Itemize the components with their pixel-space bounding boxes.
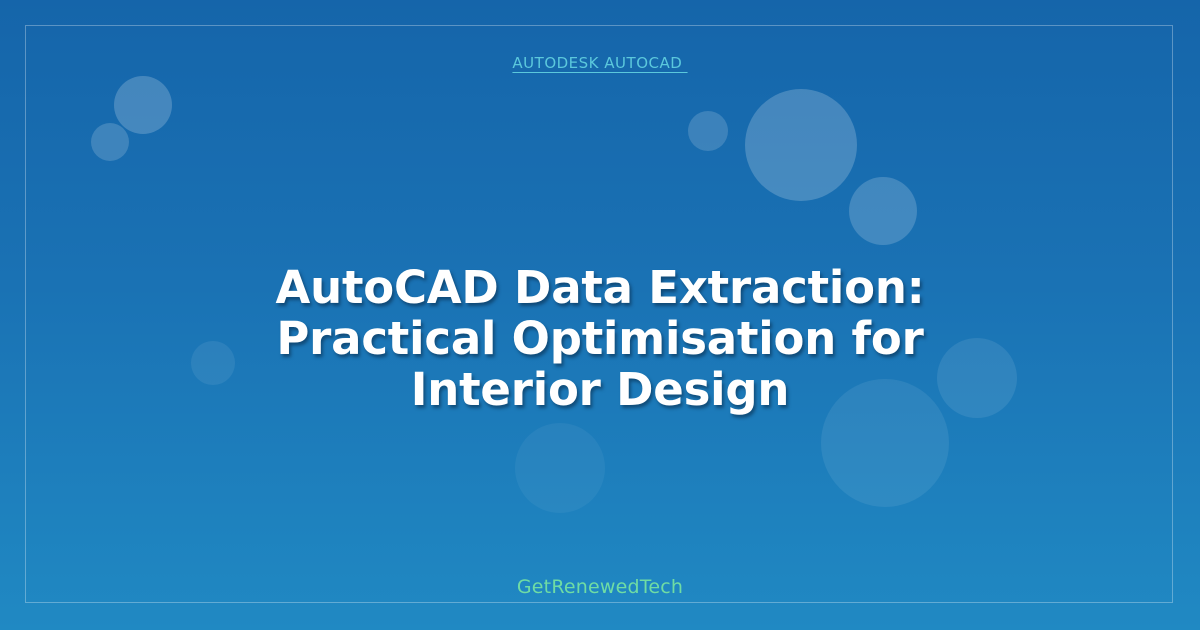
title-block: AutoCAD Data Extraction: Practical Optim… [0,262,1200,415]
og-hero-card: AUTODESK AUTOCAD AutoCAD Data Extraction… [0,0,1200,630]
card-content: AUTODESK AUTOCAD AutoCAD Data Extraction… [0,0,1200,630]
brand-footer: GetRenewedTech [0,576,1200,598]
page-title: AutoCAD Data Extraction: Practical Optim… [200,262,1000,415]
category-label[interactable]: AUTODESK AUTOCAD [512,54,687,72]
